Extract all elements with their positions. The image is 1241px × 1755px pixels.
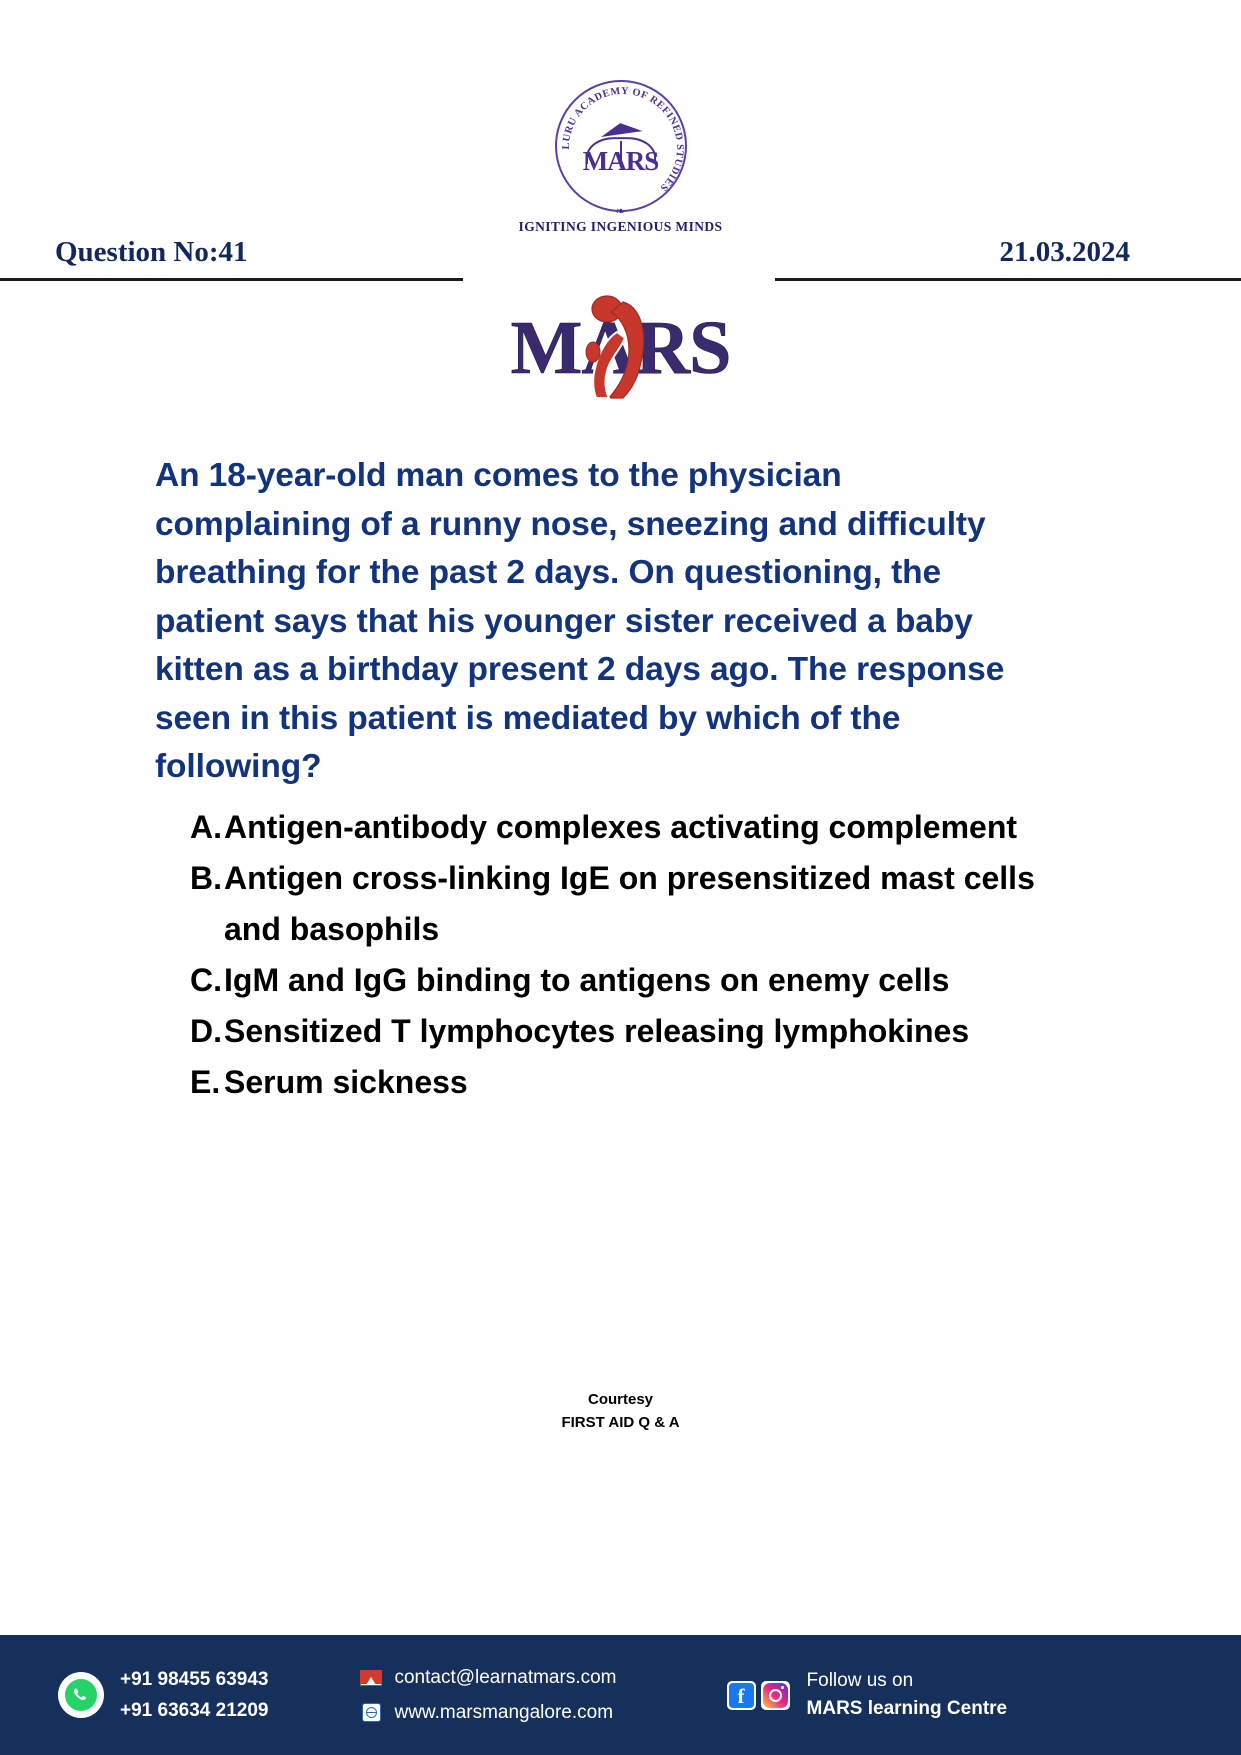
globe-icon — [360, 1704, 382, 1722]
email-text: contact@learnatmars.com — [394, 1667, 616, 1689]
header-divider-right — [775, 278, 1241, 281]
flourish-icon: ❧ — [604, 206, 638, 216]
option-d-letter: D. — [190, 1006, 224, 1057]
option-a[interactable]: A. Antigen-antibody complexes activating… — [190, 802, 1060, 853]
phone-number-1: +91 98455 63943 — [120, 1664, 268, 1695]
option-c-letter: C. — [190, 955, 224, 1006]
seal-circle: MANGALURU ACADEMY OF REFINED STUDIES MAR… — [555, 80, 687, 212]
option-b-text: Antigen cross-linking IgE on presensitiz… — [224, 853, 1060, 955]
phone-number-2: +91 63634 21209 — [120, 1695, 268, 1726]
graduation-cap-icon — [598, 121, 644, 136]
page-header: Question No:41 21.03.2024 — [55, 236, 1130, 269]
option-d[interactable]: D. Sensitized T lymphocytes releasing ly… — [190, 1006, 1060, 1057]
footer-contact-group: contact@learnatmars.com www.marsmangalor… — [360, 1667, 616, 1724]
option-e-letter: E. — [190, 1057, 224, 1108]
whatsapp-icon[interactable] — [58, 1672, 104, 1718]
footer-phone-group: +91 98455 63943 +91 63634 21209 — [58, 1664, 268, 1726]
instagram-icon[interactable] — [761, 1681, 790, 1710]
courtesy-label: Courtesy — [0, 1388, 1241, 1411]
option-b-letter: B. — [190, 853, 224, 904]
option-c-text: IgM and IgG binding to antigens on enemy… — [224, 955, 1060, 1006]
facebook-icon[interactable]: f — [727, 1681, 756, 1710]
follow-line-2: MARS learning Centre — [807, 1695, 1008, 1723]
courtesy-source: FIRST AID Q & A — [0, 1411, 1241, 1434]
seal-monogram-text: MARS — [573, 150, 669, 173]
website-row[interactable]: www.marsmangalore.com — [360, 1702, 616, 1724]
option-e[interactable]: E. Serum sickness — [190, 1057, 1060, 1108]
mars-wordmark-logo: MARS — [0, 292, 1241, 402]
website-text: www.marsmangalore.com — [394, 1702, 613, 1724]
follow-text: Follow us on MARS learning Centre — [807, 1667, 1008, 1723]
academy-seal-logo: MANGALURU ACADEMY OF REFINED STUDIES MAR… — [0, 80, 1241, 235]
date-label: 21.03.2024 — [1000, 236, 1131, 269]
answer-options-list: A. Antigen-antibody complexes activating… — [190, 802, 1060, 1108]
option-e-text: Serum sickness — [224, 1057, 1060, 1108]
question-text: An 18-year-old man comes to the physicia… — [155, 452, 1045, 792]
option-c[interactable]: C. IgM and IgG binding to antigens on en… — [190, 955, 1060, 1006]
footer-social-group: f Follow us on MARS learning Centre — [727, 1667, 1008, 1723]
seal-monogram-group: MARS — [573, 121, 669, 173]
footer-bar: +91 98455 63943 +91 63634 21209 contact@… — [0, 1635, 1241, 1755]
header-divider-left — [0, 278, 463, 281]
courtesy-block: Courtesy FIRST AID Q & A — [0, 1388, 1241, 1434]
email-row[interactable]: contact@learnatmars.com — [360, 1667, 616, 1689]
follow-line-1: Follow us on — [807, 1667, 1008, 1695]
option-a-text: Antigen-antibody complexes activating co… — [224, 802, 1060, 853]
option-b[interactable]: B. Antigen cross-linking IgE on presensi… — [190, 853, 1060, 955]
option-a-letter: A. — [190, 802, 224, 853]
question-number-label: Question No:41 — [55, 236, 248, 269]
email-icon — [360, 1669, 382, 1687]
phone-numbers: +91 98455 63943 +91 63634 21209 — [120, 1664, 268, 1726]
brand-tagline: IGNITING INGENIOUS MINDS — [519, 219, 723, 235]
option-d-text: Sensitized T lymphocytes releasing lymph… — [224, 1006, 1060, 1057]
running-person-icon — [583, 292, 667, 400]
